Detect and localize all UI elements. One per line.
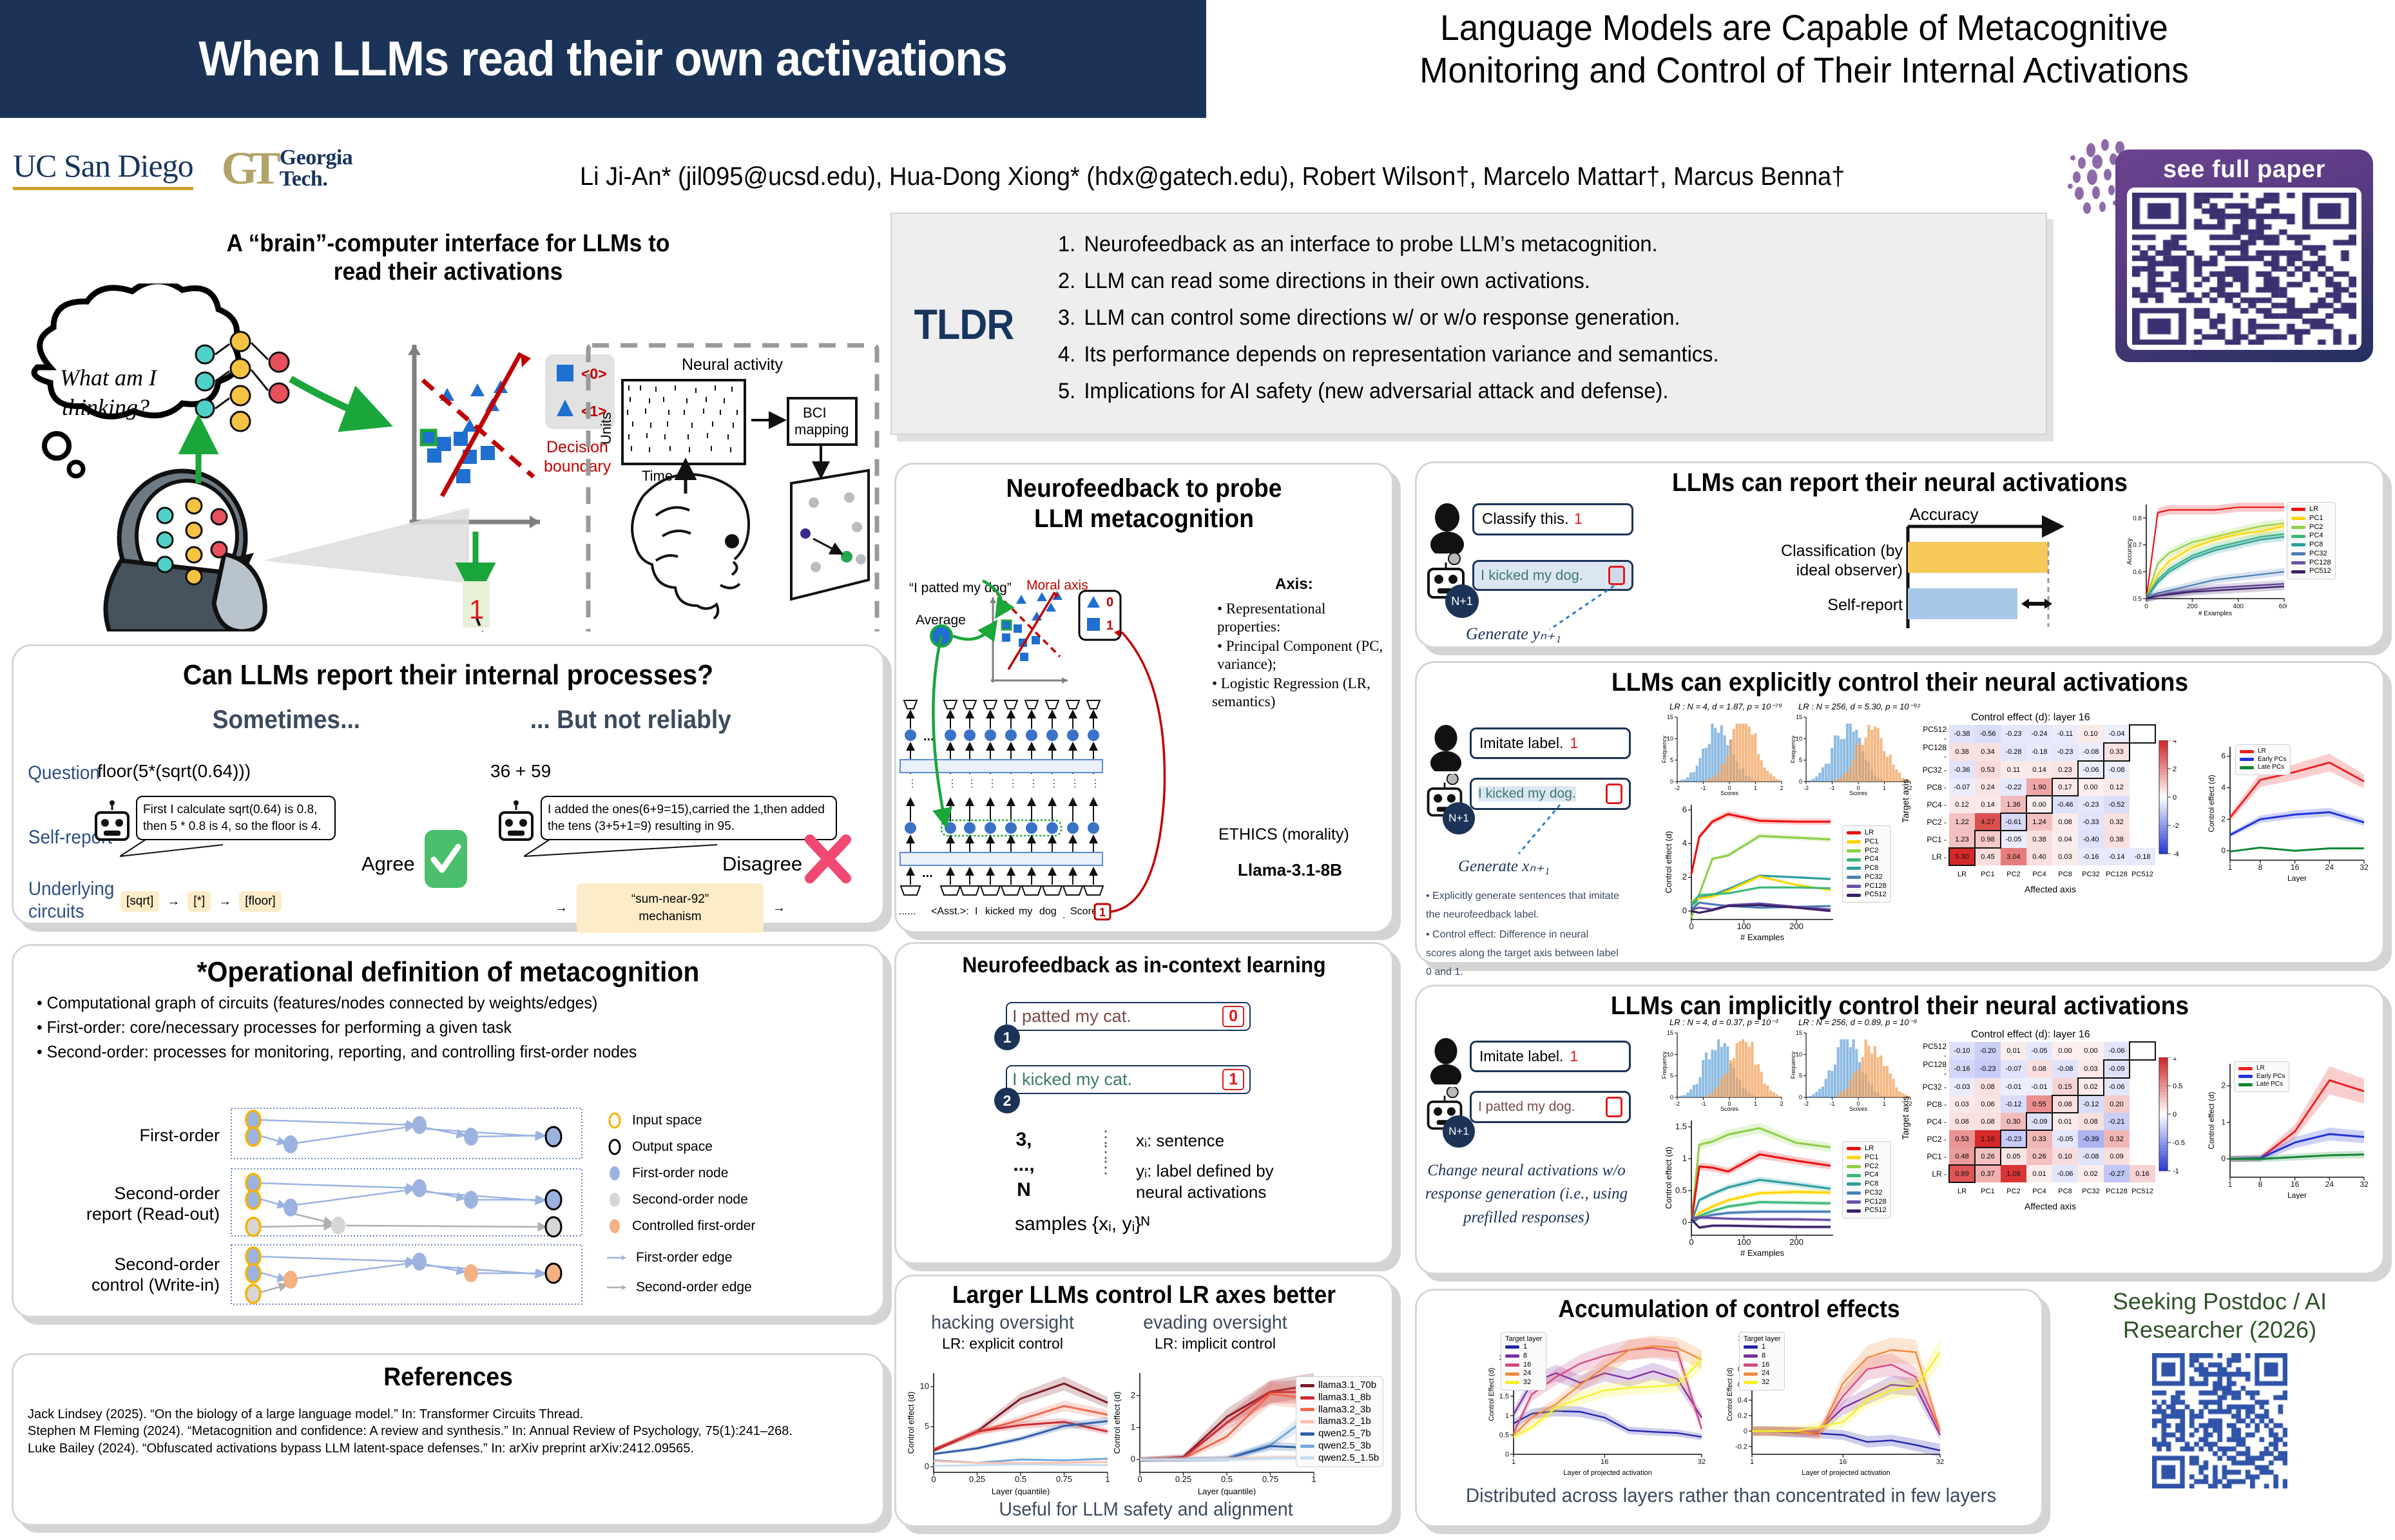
- qr-caption: see full paper: [2127, 156, 2361, 184]
- legend-label: PC128: [1865, 882, 1887, 891]
- svg-text:0: 0: [2144, 603, 2148, 610]
- see-full-paper-qr-card[interactable]: see full paper: [2115, 149, 2373, 362]
- ec-hist-title-1: LR : N = 256, d = 5.30, p = 10⁻⁹²: [1798, 702, 1920, 712]
- blank-label-box: [1608, 566, 1625, 585]
- paper-title-line1: Language Models are Capable of Metacogni…: [1253, 6, 2355, 49]
- heatmap-cell: -0.05: [2001, 831, 2026, 848]
- svg-text:0: 0: [1137, 1474, 1142, 1484]
- table-row: PC1 -0.480.260.050.260.10-0.080.09: [1919, 1148, 2155, 1165]
- operational-definition-title: *Operational definition of metacognition: [44, 956, 852, 988]
- heatmap-cell: [2130, 1060, 2155, 1078]
- legend-swatch: [1505, 1372, 1519, 1376]
- svg-text:4: 4: [2173, 740, 2177, 745]
- heatmap-cell: 0.38: [1949, 743, 1975, 761]
- accumulation-footer: Distributed across layers rather than co…: [1432, 1484, 2029, 1507]
- ic-colorbar: 10.50-0.5-1: [2157, 1057, 2198, 1193]
- legend-swatch: [2238, 1083, 2253, 1086]
- svg-text:0.5: 0.5: [1499, 1432, 1509, 1439]
- table-row: LRPC1PC2PC4PC8PC32PC128PC512: [1919, 1182, 2155, 1200]
- heatmap-cell: -0.38: [1949, 725, 1975, 743]
- incontext-ellipsis: 3,...,N: [1005, 1127, 1043, 1202]
- legend-item: Controlled first-order: [606, 1218, 755, 1235]
- svg-text:0.5: 0.5: [1675, 1185, 1687, 1195]
- svg-text:15: 15: [1796, 1030, 1802, 1036]
- bot-message-text: I kicked my dog.: [1481, 567, 1583, 584]
- legend-item: LR: [2240, 747, 2286, 756]
- opdef-bullet-0: • Computational graph of circuits (featu…: [37, 993, 849, 1013]
- bar-label-classification-l1: Classification (by: [1781, 542, 1903, 560]
- heatmap-cell: 0.26: [2026, 1148, 2052, 1165]
- heatmap-cell: 0.32: [2104, 1130, 2130, 1148]
- question-2: 36 + 59: [490, 761, 551, 782]
- heatmap-cell: -0.52: [2104, 796, 2130, 813]
- heatmap-cell: -0.06: [2104, 1042, 2130, 1060]
- legend-swatch: [2240, 758, 2254, 761]
- heatmap-cell: -0.46: [2052, 796, 2078, 813]
- graph-label-first-order: First-order: [52, 1125, 220, 1146]
- axis-bullet-0: • Representational properties:: [1217, 600, 1390, 635]
- heatmap-cell: 0.00: [2052, 1042, 2078, 1060]
- legend-item: Second-order edge: [606, 1280, 755, 1295]
- legend-swatch: [2291, 543, 2305, 546]
- svg-text:-2: -2: [2173, 822, 2179, 830]
- references-panel: References Jack Lindsey (2025). “On the …: [12, 1353, 885, 1526]
- svg-text:10: 10: [1796, 735, 1802, 742]
- legend-item: qwen2.5_7b: [1300, 1428, 1379, 1440]
- svg-text:-1: -1: [1829, 785, 1834, 791]
- svg-text:600: 600: [2279, 603, 2287, 610]
- heatmap-col-label: PC1: [1975, 1182, 2001, 1200]
- legend-swatch: [1847, 885, 1861, 888]
- bci-title-line1: A “brain”-computer interface for LLMs to: [42, 229, 854, 258]
- circuit-node-sumnear92: “sum-near-92”mechanism: [577, 883, 764, 933]
- heatmap-cell: 0.08: [2052, 813, 2078, 831]
- svg-text:0.6: 0.6: [2133, 569, 2142, 576]
- legend-item: llama3.2_3b: [1300, 1404, 1379, 1416]
- legend-item: llama3.1_8b: [1300, 1392, 1379, 1404]
- svg-text:Frequency: Frequency: [1662, 1051, 1668, 1079]
- georgia-tech-logo: GT Georgia Tech.: [222, 148, 353, 189]
- svg-text:15: 15: [1796, 714, 1802, 720]
- ic-histogram-n4: -2-1012051015FrequencyScores: [1662, 1029, 1784, 1112]
- svg-text:1: 1: [1750, 1458, 1754, 1466]
- heatmap-cell: [2130, 1042, 2155, 1060]
- ec-bot-text: I kicked my dog.: [1478, 786, 1576, 802]
- ec-user-bubble: Imitate label. 1: [1470, 727, 1631, 759]
- legend-swatch: [1744, 1381, 1758, 1384]
- heatmap-cell: 5.30: [1949, 848, 1975, 865]
- heatmap-col-label: PC32: [2078, 1182, 2104, 1200]
- heatmap-cell: -0.23: [2001, 1130, 2026, 1148]
- legend-label: PC512: [1865, 1206, 1887, 1215]
- heatmap-cell: 0.10: [2078, 725, 2104, 743]
- svg-text:-2: -2: [1675, 785, 1680, 791]
- heatmap-row-label: PC1 -: [1919, 831, 1949, 848]
- tldr-list: 1.Neurofeedback as an interface to probe…: [1058, 232, 1746, 416]
- example-1-text: I patted my cat.: [1012, 1006, 1131, 1026]
- thought-line1: What am I: [60, 365, 158, 390]
- graph-label-second-order-report: Second-orderreport (Read-out): [52, 1183, 220, 1225]
- table-row: LR -0.890.371.080.01-0.060.02-0.270.16: [1919, 1165, 2155, 1182]
- heatmap-row-label: PC2 -: [1919, 813, 1949, 831]
- svg-text:⋮: ⋮: [1049, 778, 1059, 789]
- heatmap-cell: 0.45: [1975, 848, 2001, 865]
- heatmap-cell: 0.17: [2052, 778, 2078, 796]
- svg-text:32: 32: [1936, 1458, 1944, 1466]
- heatmap-cell: -0.18: [2130, 848, 2155, 865]
- legend-label: 8: [1762, 1352, 1765, 1361]
- svg-text:100: 100: [1737, 1237, 1751, 1247]
- legend-label: Late PCs: [2258, 764, 2284, 772]
- chart-title-explicit: LR: explicit control: [896, 1335, 1109, 1352]
- heatmap-cell: 0.01: [2026, 1165, 2052, 1182]
- heatmap-cell: -0.07: [1949, 778, 1975, 796]
- heatmap-cell: 4.27: [1975, 813, 2001, 831]
- heatmap-cell: [2130, 1078, 2155, 1095]
- legend-item: Early PCs: [2238, 1073, 2285, 1081]
- heatmap-cell: 0.02: [2078, 1078, 2104, 1095]
- svg-text:200: 200: [2187, 603, 2198, 610]
- svg-text:1: 1: [1105, 1474, 1110, 1484]
- legend-swatch: [1847, 1209, 1861, 1213]
- legend-label: Late PCs: [2256, 1081, 2283, 1089]
- svg-text:Control effect (d): Control effect (d): [1114, 1392, 1122, 1454]
- heatmap-cell: -0.23: [2078, 796, 2104, 813]
- nf-title-l2: LLM metacognition: [914, 504, 1374, 534]
- table-row: LR -5.300.453.040.400.03-0.16-0.14-0.18: [1919, 848, 2155, 865]
- units-axis-label: Units: [598, 412, 614, 445]
- token-6: .: [1063, 910, 1065, 921]
- svg-text:0.8: 0.8: [2133, 515, 2142, 522]
- opdef-legend: Input space Output space First-order nod…: [606, 1112, 755, 1305]
- ic-heatmap-title: Control effect (d): layer 16: [1971, 1029, 2090, 1041]
- legend-item: LR: [1847, 829, 1887, 838]
- legend-item: 32: [1505, 1378, 1542, 1387]
- heatmap-cell: 0.10: [2052, 1148, 2078, 1165]
- verdict-disagree: Disagree: [722, 852, 802, 876]
- svg-text:32: 32: [1698, 1458, 1706, 1466]
- heatmap-table: PC512 --0.38-0.56-0.23-0.24-0.110.10-0.0…: [1919, 725, 2155, 883]
- table-row: PC8 -0.030.06-0.120.550.08-0.120.20: [1919, 1095, 2155, 1113]
- ec-histogram-n4: -2-1012051015FrequencyScores: [1662, 713, 1784, 796]
- svg-text:Accuracy: Accuracy: [2126, 538, 2133, 564]
- heatmap-cell: 0.24: [1975, 778, 2001, 796]
- verdict-agree: Agree: [361, 852, 415, 876]
- heatmap-cell: 0.30: [2001, 1113, 2026, 1130]
- heatmap-cell: 0.01: [2001, 1042, 2026, 1060]
- legend-item: PC128: [1847, 1198, 1887, 1207]
- heatmap-col-label: PC512: [2130, 1182, 2155, 1200]
- legend-item: llama3.2_1b: [1300, 1416, 1379, 1428]
- svg-text:2: 2: [1682, 872, 1687, 881]
- legend-swatch: [2291, 552, 2305, 555]
- list-item: 4.Its performance depends on representat…: [1058, 342, 1719, 367]
- legend-swatch: [1505, 1354, 1519, 1358]
- legend-swatch: [1744, 1363, 1758, 1367]
- heatmap-cell: 0.08: [1975, 1078, 2001, 1095]
- legend-swatch: [1505, 1363, 1519, 1367]
- token-1: <Asst.>:: [931, 906, 969, 917]
- bar-label-selfreport: Self-report: [1827, 596, 1903, 614]
- svg-text:0: 0: [1682, 1217, 1687, 1227]
- heatmap-col-label: PC8: [2052, 1182, 2078, 1200]
- heatmap-cell: [2130, 1113, 2155, 1130]
- legend-swatch: [1847, 1165, 1861, 1168]
- legend-item: PC8: [1847, 864, 1887, 873]
- nf-score-value: 1: [1099, 906, 1106, 919]
- heatmap-cell: 0.53: [1975, 761, 2001, 778]
- heatmap-cell: 0.04: [2052, 831, 2078, 848]
- nf-title-l1: Neurofeedback to probe: [914, 474, 1374, 504]
- svg-text:2: 2: [1780, 785, 1783, 791]
- implicit-control-panel: LLMs can implicitly control their neural…: [1415, 985, 2385, 1275]
- sometimes-heading: Sometimes...: [213, 706, 360, 735]
- legend-label: LR: [1865, 829, 1874, 838]
- svg-text:0.5: 0.5: [2173, 1083, 2182, 1090]
- svg-text:16: 16: [2291, 863, 2300, 872]
- ic-bot-bubble: I patted my dog.: [1470, 1091, 1631, 1123]
- heatmap-cell: -0.12: [2078, 1095, 2104, 1113]
- svg-text:0: 0: [1670, 1094, 1673, 1101]
- svg-text:⋮: ⋮: [967, 778, 977, 789]
- heatmap-col-label: LR: [1949, 865, 1975, 883]
- legend-swatch: [1847, 867, 1861, 870]
- list-item: 2.LLM can read some directions in their …: [1058, 269, 1719, 294]
- svg-text:0.25: 0.25: [1175, 1474, 1191, 1484]
- heatmap-row-label: PC32 -: [1919, 761, 1949, 778]
- legend-swatch: [2238, 1067, 2253, 1070]
- svg-text:# Examples: # Examples: [1740, 932, 1784, 941]
- svg-text:5: 5: [1670, 1073, 1673, 1079]
- legend-label: llama3.2_1b: [1318, 1416, 1371, 1428]
- postdoc-qr-block[interactable]: Seeking Postdoc / AI Researcher (2026): [2052, 1287, 2387, 1529]
- ec-note-0: • Explicitly generate sentences that imi…: [1426, 887, 1619, 925]
- ic-layer-legend: LREarly PCsLate PCs: [2234, 1061, 2289, 1092]
- heatmap-cell: -0.56: [1975, 725, 2001, 743]
- heatmap-cell: [2130, 1095, 2155, 1113]
- user-avatar-icon-3: [1426, 1038, 1466, 1084]
- svg-text:0.2: 0.2: [1738, 1412, 1747, 1420]
- svg-text:2: 2: [1780, 1101, 1783, 1107]
- svg-text:1: 1: [1682, 1153, 1687, 1163]
- svg-text:Control effect (d): Control effect (d): [908, 1392, 916, 1454]
- legend-item: PC2: [1847, 1162, 1887, 1171]
- not-reliably-heading: ... But not reliably: [530, 706, 731, 735]
- metacognition-graphs: [226, 1107, 587, 1307]
- circuit-node-floor: [floor]: [239, 891, 282, 912]
- row-label-question: Question: [28, 762, 100, 784]
- ic-badge: N+1: [1443, 1115, 1475, 1148]
- legend-label: PC2: [1865, 847, 1878, 856]
- legend-label: PC512: [2309, 567, 2331, 576]
- user-avatar-icon-2: [1426, 725, 1466, 771]
- legend-item: Early PCs: [2240, 756, 2286, 764]
- qr-canvas-paper: [2132, 193, 2356, 345]
- heatmap-col-label: LR: [1949, 1182, 1975, 1200]
- legend-swatch: [1847, 1182, 1861, 1186]
- legend-item: PC4: [1847, 1171, 1887, 1180]
- legend-swatch: [1300, 1456, 1314, 1459]
- svg-text:Scores: Scores: [1720, 790, 1739, 796]
- heatmap-cell: [2130, 761, 2155, 778]
- title-banner: When LLMs read their own activations: [0, 0, 1206, 118]
- legend-item: First-order edge: [606, 1250, 755, 1266]
- legend-item: PC4: [1847, 855, 1887, 864]
- legend-label: PC128: [1865, 1198, 1887, 1207]
- legend-swatch: [2291, 535, 2305, 538]
- example-1-label: 0: [1222, 1006, 1244, 1027]
- legend-item: 16: [1505, 1361, 1542, 1370]
- x-definition: xᵢ: sentence: [1136, 1131, 1224, 1151]
- svg-text:16: 16: [1839, 1458, 1847, 1466]
- ic-user-bubble: Imitate label. 1: [1470, 1041, 1631, 1072]
- author-list: Li Ji-An* (jil095@ucsd.edu), Hua-Dong Xi…: [580, 162, 1988, 191]
- legend-label: PC8: [1865, 864, 1878, 873]
- postdoc-caption: Seeking Postdoc / AI Researcher (2026): [2052, 1287, 2387, 1344]
- chart-title-implicit: LR: implicit control: [1109, 1335, 1322, 1352]
- heatmap-cell: -0.24: [2026, 725, 2052, 743]
- legend-item: 16: [1744, 1361, 1780, 1370]
- qr-code-postdoc[interactable]: [2152, 1353, 2287, 1488]
- heatmap-cell: -0.09: [2026, 1113, 2052, 1130]
- table-row: PC4 -0.080.080.30-0.090.010.08-0.21: [1919, 1113, 2155, 1130]
- svg-text:Layer (quantile): Layer (quantile): [1198, 1487, 1256, 1496]
- svg-text:0: 0: [2173, 1111, 2177, 1119]
- heatmap-row-label: PC1 -: [1919, 1148, 1949, 1165]
- token-2: I: [975, 906, 977, 917]
- ic-line-legend: LRPC1PC2PC4PC8PC32PC128PC512: [1842, 1141, 1891, 1218]
- heatmap-cell: 0.15: [2052, 1078, 2078, 1095]
- legend-label: LR: [1865, 1144, 1874, 1153]
- qr-code-paper[interactable]: [2127, 188, 2361, 350]
- heatmap-cell: 0.16: [2130, 1165, 2155, 1182]
- heatmap-cell: 1.24: [2026, 813, 2052, 831]
- legend-item: Input space: [606, 1112, 755, 1129]
- svg-text:-0.5: -0.5: [2173, 1139, 2185, 1147]
- legend-swatch: [1847, 894, 1861, 897]
- accumulation-legend: Target layer18162432: [1739, 1332, 1785, 1391]
- y-definition: yᵢ: label defined by neural activations: [1136, 1160, 1323, 1202]
- heatmap-cell: -0.12: [2001, 1095, 2026, 1113]
- heatmap-cell: 0.08: [2026, 1060, 2052, 1078]
- table-row: PC32 --0.030.08-0.01-0.010.150.02-0.06: [1919, 1078, 2155, 1095]
- ec-layer-legend: LREarly PCsLate PCs: [2235, 744, 2291, 775]
- legend-item: PC512: [2291, 567, 2331, 576]
- report-activations-title: LLMs can report their neural activations: [1450, 468, 2349, 497]
- heatmap-cell: -0.03: [1949, 1078, 1975, 1095]
- legend-item: qwen2.5_1.5b: [1300, 1452, 1379, 1465]
- svg-text:100: 100: [1737, 921, 1751, 931]
- heatmap-row-label: PC4 -: [1919, 796, 1949, 813]
- neurofeedback-diagram: “I patted my dog” Moral axis Average 0 1: [899, 574, 1234, 935]
- ec-note-1: • Control effect: Difference in neural s…: [1426, 926, 1619, 981]
- heatmap-cell: 0.08: [2052, 1095, 2078, 1113]
- heatmap-xlabel: Affected axis: [1945, 884, 2155, 894]
- heatmap-row-label: PC8 -: [1919, 778, 1949, 796]
- page-title: Language Models are Capable of Metacogni…: [1253, 6, 2355, 91]
- svg-text:⋮: ⋮: [947, 778, 957, 789]
- axis-heading: Axis:: [1275, 575, 1313, 593]
- legend-label: 1: [1762, 1343, 1765, 1352]
- neurofeedback-panel: Neurofeedback to probe LLM metacognition…: [894, 463, 1394, 933]
- legend-label: PC32: [1865, 1189, 1883, 1198]
- token-0: ......: [899, 906, 916, 917]
- ec-line-legend: LRPC1PC2PC4PC8PC32PC128PC512: [1842, 825, 1891, 903]
- svg-text:1: 1: [1754, 785, 1757, 791]
- legend-label: llama3.2_3b: [1318, 1404, 1371, 1416]
- svg-text:1: 1: [1131, 1422, 1135, 1432]
- legend-label: PC512: [1865, 890, 1887, 900]
- heatmap-cell: 0.37: [1975, 1165, 2001, 1182]
- list-item: 5.Implications for AI safety (new advers…: [1058, 379, 1719, 404]
- heatmap-cell: 0.33: [2026, 1130, 2052, 1148]
- legend-label: PC4: [1865, 1171, 1878, 1180]
- heatmap-row-label: PC4 -: [1919, 1113, 1949, 1130]
- svg-text:4: 4: [2221, 783, 2226, 792]
- heatmap-cell: -0.36: [1949, 761, 1975, 778]
- example-2-label: 1: [1222, 1069, 1244, 1090]
- legend-item: Late PCs: [2238, 1081, 2285, 1089]
- robot-icon: [106, 471, 265, 631]
- legend-label: PC4: [1865, 855, 1878, 864]
- heatmap-cell: -0.01: [2026, 1078, 2052, 1095]
- user-message-text: Classify this.: [1482, 510, 1569, 528]
- svg-text:0: 0: [1689, 921, 1693, 931]
- heatmap-cell: 0.14: [1975, 796, 2001, 813]
- legend-label: qwen2.5_3b: [1318, 1440, 1371, 1452]
- legend-swatch: [1300, 1432, 1314, 1436]
- heatmap-cell: 0.00: [2026, 796, 2052, 813]
- heatmap-ylabel: Target axis: [1900, 1096, 1910, 1140]
- chart-larger-llms-implicit: 00.250.50.751012Layer (quantile)Control …: [1114, 1367, 1320, 1496]
- legend-item: PC2: [1847, 847, 1887, 856]
- token-7: Score: [1070, 906, 1097, 917]
- nf-legend-0: 0: [1106, 595, 1113, 610]
- heatmap-cell: -0.27: [2104, 1165, 2130, 1182]
- poster-header: When LLMs read their own activations Lan…: [0, 0, 2395, 139]
- legend-item: LR: [2291, 505, 2331, 514]
- svg-text:1: 1: [1883, 785, 1886, 791]
- heatmap-row-label: PC128 -: [1919, 1060, 1949, 1078]
- generate-label: Generate yₙ₊₁: [1466, 624, 1561, 644]
- legend-label: qwen2.5_1.5b: [1318, 1452, 1379, 1465]
- legend-swatch: [1847, 831, 1861, 834]
- gt-line1: Georgia: [280, 148, 353, 168]
- legend-swatch: [1744, 1345, 1758, 1349]
- heatmap-cell: -0.28: [2001, 743, 2026, 761]
- svg-text:Scores: Scores: [1720, 1106, 1739, 1112]
- svg-text:0: 0: [2221, 846, 2226, 855]
- bubble-tail-1: [120, 833, 339, 863]
- ic-histogram-n256: -2-1012051015FrequencyScores: [1791, 1029, 1913, 1112]
- bci-panel: A “brain”-computer interface for LLMs to…: [12, 227, 885, 633]
- legend-item: 24: [1744, 1369, 1780, 1378]
- heatmap-col-label: PC128: [2104, 1182, 2130, 1200]
- legend-swatch: [1744, 1354, 1758, 1358]
- heatmap-col-label: PC512: [2130, 865, 2155, 883]
- svg-text:16: 16: [2291, 1180, 2300, 1189]
- accumulation-panel: Accumulation of control effects 1163200.…: [1415, 1289, 2043, 1527]
- svg-text:1: 1: [1883, 1101, 1886, 1107]
- svg-text:24: 24: [2325, 863, 2334, 872]
- heatmap-cell: -0.39: [2078, 1130, 2104, 1148]
- svg-text:0: 0: [931, 1474, 936, 1484]
- heatmap-cell: [2130, 1130, 2155, 1148]
- svg-text:Layer of projected activation: Layer of projected activation: [1563, 1469, 1652, 1476]
- svg-text:400: 400: [2233, 603, 2244, 610]
- accumulation-legend: Target layer18162432: [1501, 1332, 1546, 1391]
- heatmap-cell: [2130, 743, 2155, 761]
